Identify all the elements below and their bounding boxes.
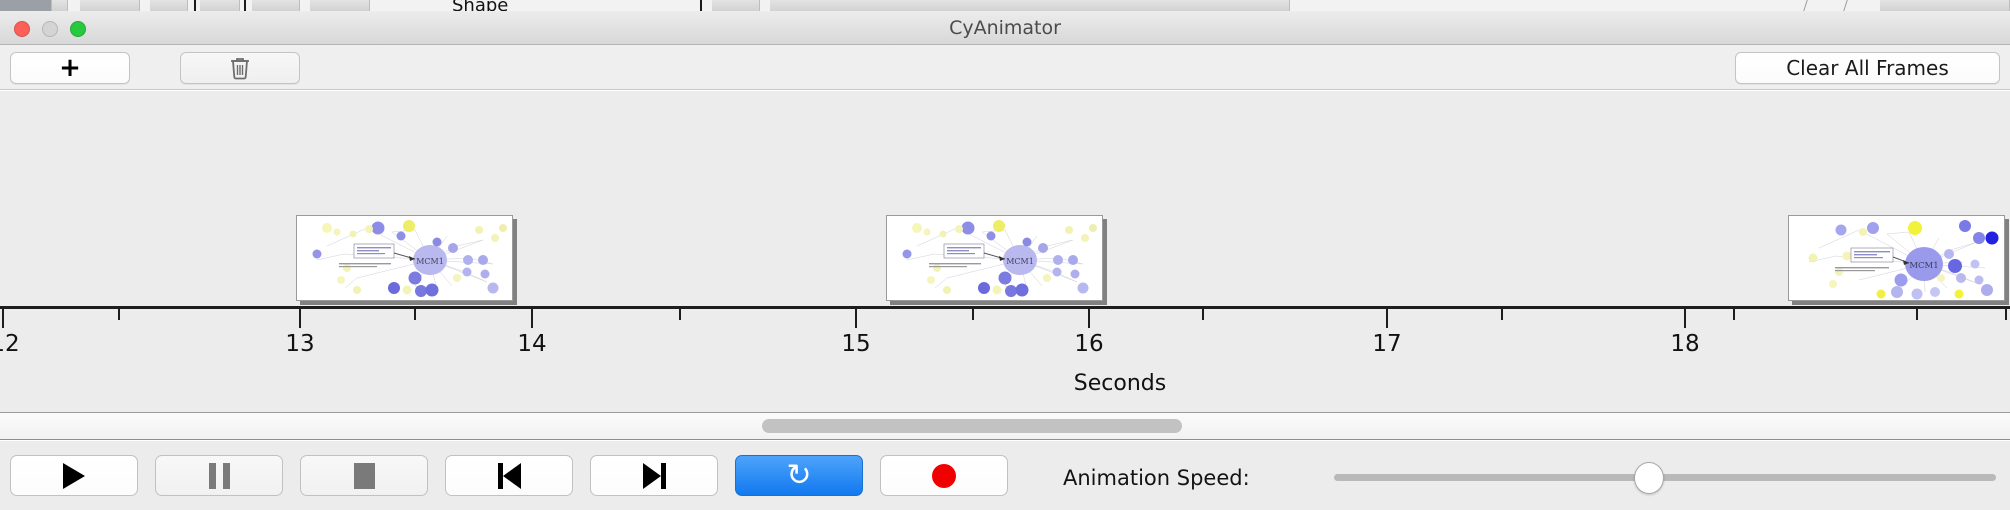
axis-tick-minor (972, 309, 974, 320)
play-icon (63, 463, 85, 489)
scrollbar-thumb[interactable] (762, 419, 1182, 433)
axis-tick-minor (118, 309, 120, 320)
playback-control-bar: ↻ Animation Speed: (0, 441, 2010, 510)
network-graph-preview: MCM1 (297, 216, 513, 301)
axis-tick-minor (1916, 309, 1918, 320)
stop-button[interactable] (300, 455, 428, 496)
loop-icon: ↻ (786, 461, 811, 491)
timeline-scrollbar[interactable] (0, 413, 2010, 440)
axis-tick-13 (299, 309, 301, 328)
timeline-panel[interactable]: MCM1 (0, 91, 2010, 413)
axis-tick-minor (2005, 309, 2007, 320)
animation-speed-slider[interactable] (1334, 474, 1996, 481)
stop-icon (354, 463, 375, 489)
record-button[interactable] (880, 455, 1008, 496)
plus-icon: + (59, 55, 81, 81)
frame-thumbnail-1[interactable]: MCM1 (296, 215, 513, 301)
frame-toolbar: + Clear All Frames (0, 45, 2010, 90)
record-icon (932, 464, 956, 488)
axis-label-18: 18 (1670, 331, 1699, 357)
delete-frame-button[interactable] (180, 52, 300, 84)
window-title: CyAnimator (0, 11, 2010, 45)
axis-tick-12 (2, 309, 4, 328)
axis-title-text: Seconds (1074, 371, 1166, 396)
axis-tick-minor (1202, 309, 1204, 320)
axis-label-13: 13 (285, 331, 314, 357)
axis-label-14: 14 (517, 331, 546, 357)
axis-tick-15 (855, 309, 857, 328)
pause-icon (209, 463, 230, 489)
axis-label-17: 17 (1372, 331, 1401, 357)
play-button[interactable] (10, 455, 138, 496)
loop-button[interactable]: ↻ (735, 455, 863, 496)
skip-back-button[interactable] (445, 455, 573, 496)
skip-forward-icon (643, 463, 666, 489)
trash-icon (228, 55, 252, 81)
axis-label-12: 12 (0, 331, 20, 357)
animation-speed-slider-thumb[interactable] (1634, 462, 1664, 494)
skip-back-icon (498, 463, 521, 489)
timeline-axis (0, 306, 2010, 309)
axis-tick-minor (679, 309, 681, 320)
add-frame-button[interactable]: + (10, 52, 130, 84)
network-graph-preview: MCM1 (1789, 216, 2005, 301)
axis-label-16: 16 (1074, 331, 1103, 357)
title-bar: CyAnimator (0, 11, 2010, 45)
hub-node-label: MCM1 (1909, 261, 1938, 271)
cyanimator-window: Shape CyAnimator + Clear All (0, 0, 2010, 510)
axis-tick-minor (1501, 309, 1503, 320)
background-shape-label: Shape (452, 0, 508, 11)
axis-tick-18 (1684, 309, 1686, 328)
animation-speed-label: Animation Speed: (1063, 466, 1250, 490)
skip-forward-button[interactable] (590, 455, 718, 496)
axis-title: Seconds (0, 371, 2010, 396)
axis-tick-minor (414, 309, 416, 320)
axis-tick-17 (1386, 309, 1388, 328)
clear-all-frames-label: Clear All Frames (1786, 56, 1949, 80)
axis-tick-minor (1733, 309, 1735, 320)
frame-thumbnail-2[interactable]: MCM1 (886, 215, 1103, 301)
axis-label-15: 15 (841, 331, 870, 357)
hub-node-label: MCM1 (1006, 257, 1034, 266)
network-graph-preview: MCM1 (887, 216, 1103, 301)
axis-tick-14 (531, 309, 533, 328)
background-window-strip: Shape (0, 0, 2010, 11)
frame-thumbnail-3[interactable]: MCM1 (1788, 215, 2005, 301)
pause-button[interactable] (155, 455, 283, 496)
hub-node-label: MCM1 (416, 257, 444, 266)
clear-all-frames-button[interactable]: Clear All Frames (1735, 52, 2000, 84)
axis-tick-16 (1088, 309, 1090, 328)
